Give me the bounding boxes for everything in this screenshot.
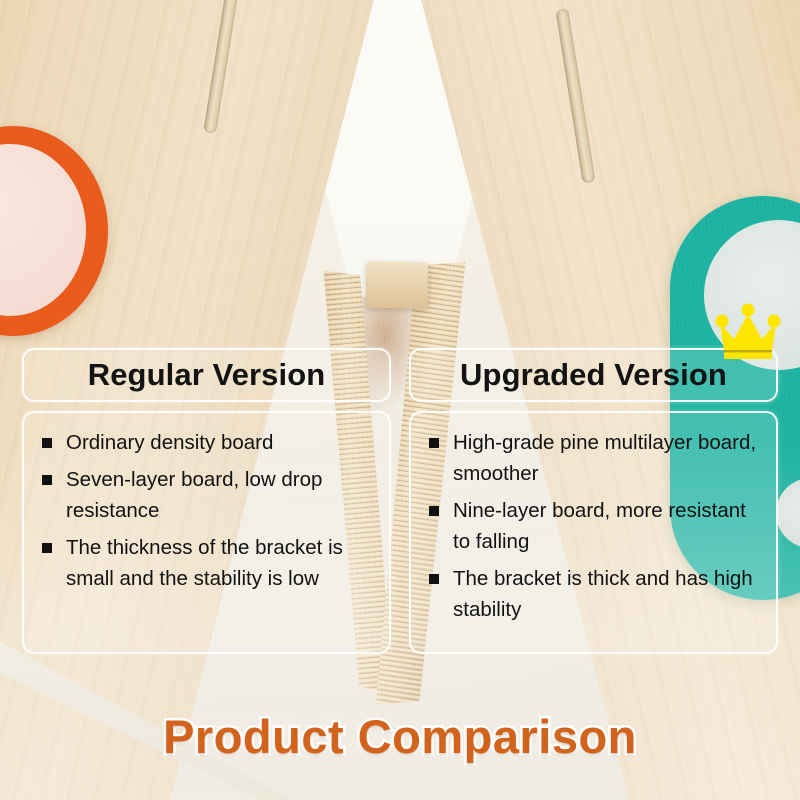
list-item: Ordinary density board [34,427,377,458]
column-regular-title: Regular Version [88,357,326,393]
column-upgraded: Upgraded Version High-grade pine multila… [409,348,778,654]
list-item: The bracket is thick and has high stabil… [421,563,764,625]
bullet-square-icon [429,438,439,448]
column-regular-title-box: Regular Version [22,348,391,402]
column-upgraded-title: Upgraded Version [460,357,727,393]
comparison-columns: Regular Version Ordinary density board S… [0,348,800,654]
list-item: Nine-layer board, more resistant to fall… [421,495,764,557]
column-upgraded-body: High-grade pine multilayer board, smooth… [409,411,778,654]
bullet-square-icon [42,543,52,553]
bullet-square-icon [42,438,52,448]
bullet-square-icon [429,506,439,516]
crown-icon [712,303,784,365]
list-item-text: The bracket is thick and has high stabil… [453,567,753,621]
product-comparison-graphic: Regular Version Ordinary density board S… [0,0,800,800]
column-regular-body: Ordinary density board Seven-layer board… [22,411,391,654]
bullet-square-icon [429,574,439,584]
list-item-text: Ordinary density board [66,431,273,454]
column-regular-bullet-list: Ordinary density board Seven-layer board… [34,427,377,594]
list-item-text: Seven-layer board, low drop resistance [66,468,322,522]
list-item-text: The thickness of the bracket is small an… [66,536,343,590]
page-title: Product Comparison [0,709,800,764]
list-item: The thickness of the bracket is small an… [34,532,377,594]
column-upgraded-bullet-list: High-grade pine multilayer board, smooth… [421,427,764,625]
column-regular: Regular Version Ordinary density board S… [22,348,391,654]
list-item: Seven-layer board, low drop resistance [34,464,377,526]
list-item-text: High-grade pine multilayer board, smooth… [453,431,756,485]
bullet-square-icon [42,475,52,485]
list-item-text: Nine-layer board, more resistant to fall… [453,499,746,553]
list-item: High-grade pine multilayer board, smooth… [421,427,764,489]
